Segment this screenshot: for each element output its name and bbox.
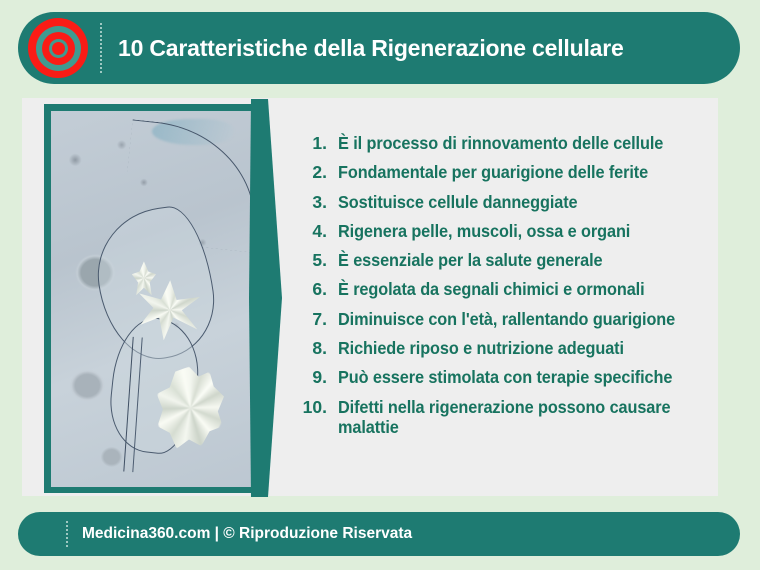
list-item-number: 4. <box>298 221 338 241</box>
list-item: 9. Può essere stimolata con terapie spec… <box>298 367 710 387</box>
list-item-number: 5. <box>298 250 338 270</box>
logo-ring-2 <box>36 26 81 71</box>
header-dotted-divider <box>100 23 102 73</box>
footer-dotted-divider <box>66 521 68 547</box>
footer-copyright-text: Medicina360.com | © Riproduzione Riserva… <box>82 512 412 556</box>
list-item: 4. Rigenera pelle, muscoli, ossa e organ… <box>298 221 710 241</box>
logo-ring-3 <box>42 32 75 65</box>
list-item-text: È regolata da segnali chimici e ormonali <box>338 279 684 299</box>
list-item-number: 9. <box>298 367 338 387</box>
list-item-number: 7. <box>298 309 338 329</box>
logo-ring-4 <box>49 39 68 58</box>
list-item-text: Rigenera pelle, muscoli, ossa e organi <box>338 221 684 241</box>
list-item: 7. Diminuisce con l'età, rallentando gua… <box>298 309 710 329</box>
list-item-number: 6. <box>298 279 338 299</box>
list-item-number: 2. <box>298 162 338 182</box>
wedge-shape <box>249 99 282 497</box>
list-item-number: 10. <box>298 397 338 417</box>
microscopy-photo-image <box>51 111 253 487</box>
list-item: 5. È essenziale per la salute generale <box>298 250 710 270</box>
list-item: 6. È regolata da segnali chimici e ormon… <box>298 279 710 299</box>
list-item-text: Fondamentale per guarigione delle ferite <box>338 162 684 182</box>
footer-bar: Medicina360.com | © Riproduzione Riserva… <box>18 512 740 556</box>
list-item-number: 3. <box>298 192 338 212</box>
list-item: 2. Fondamentale per guarigione delle fer… <box>298 162 710 182</box>
list-item: 10. Difetti nella rigenerazione possono … <box>298 397 710 438</box>
feature-list: 1. È il processo di rinnovamento delle c… <box>298 133 710 446</box>
list-item: 8. Richiede riposo e nutrizione adeguati <box>298 338 710 358</box>
microscopy-photo-frame <box>44 104 260 493</box>
list-item: 3. Sostituisce cellule danneggiate <box>298 192 710 212</box>
logo-ring-5 <box>52 42 65 55</box>
cell-filament-shape <box>120 119 253 253</box>
list-item-number: 8. <box>298 338 338 358</box>
list-item-number: 1. <box>298 133 338 153</box>
list-item: 1. È il processo di rinnovamento delle c… <box>298 133 710 153</box>
list-item-text: Difetti nella rigenerazione possono caus… <box>338 397 684 438</box>
header-bar: 10 Caratteristiche della Rigenerazione c… <box>18 12 740 84</box>
list-item-text: Sostituisce cellule danneggiate <box>338 192 684 212</box>
teal-wedge-divider <box>249 99 285 497</box>
list-item-text: È il processo di rinnovamento delle cell… <box>338 133 684 153</box>
list-item-text: Può essere stimolata con terapie specifi… <box>338 367 684 387</box>
list-item-text: È essenziale per la salute generale <box>338 250 684 270</box>
list-item-text: Diminuisce con l'età, rallentando guarig… <box>338 309 684 329</box>
list-item-text: Richiede riposo e nutrizione adeguati <box>338 338 684 358</box>
bullseye-target-logo-icon <box>28 18 88 78</box>
page-title: 10 Caratteristiche della Rigenerazione c… <box>118 12 624 84</box>
